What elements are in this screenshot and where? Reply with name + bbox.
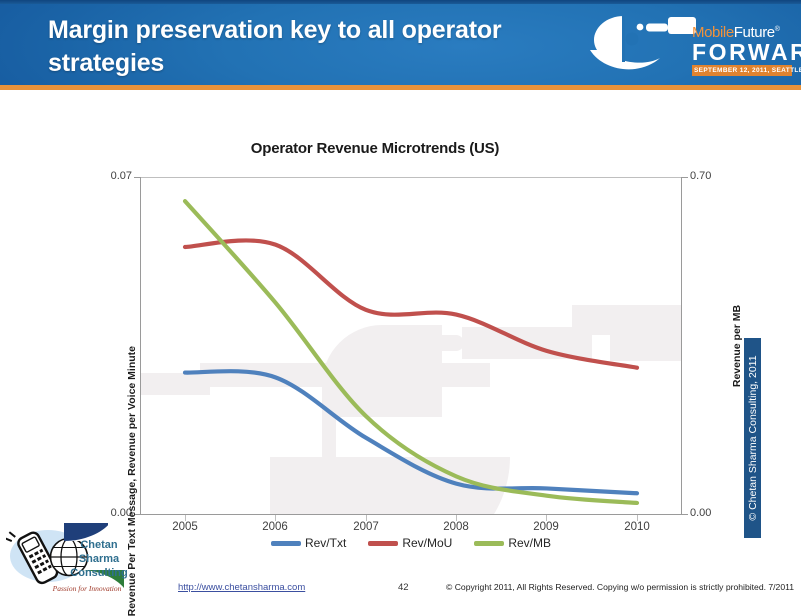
legend-item-rev-mb[interactable]: Rev/MB [474, 536, 551, 550]
company-logo-wordmark: Chetan Sharma Consulting [54, 538, 144, 580]
page-title: Margin preservation key to all operator … [48, 14, 518, 81]
mff-event-line: SEPTEMBER 12, 2011, SEATTLE [692, 65, 792, 76]
series-line-rev-txt [185, 371, 637, 493]
y2-tick-mark-min [682, 514, 688, 515]
slide-footer: http://www.chetansharma.com 42 © Copyrig… [0, 582, 801, 600]
legend-label: Rev/MB [508, 536, 551, 550]
mff-wordmark: MobileFuture® FORWARD SEPTEMBER 12, 2011… [692, 22, 792, 76]
mff-swoosh-icon [588, 10, 698, 76]
footer-copyright: © Copyright 2011, All Rights Reserved. C… [446, 582, 794, 592]
x-axis-tick-2005: 2005 [172, 521, 198, 533]
legend-item-rev-mou[interactable]: Rev/MoU [368, 536, 452, 550]
company-logo-line-1: Chetan [54, 538, 144, 552]
chart-title: Operator Revenue Microtrends (US) [95, 140, 655, 157]
legend-swatch [474, 541, 504, 546]
side-strip-label: © Chetan Sharma Consulting, 2011 [747, 355, 759, 520]
y-axis-tick-max: 0.07 [111, 170, 132, 182]
header-white-rule [0, 90, 801, 92]
mff-word-forward: FORWARD [692, 40, 792, 64]
company-logo-line-2: Sharma [54, 552, 144, 566]
series-line-rev-mb [185, 201, 637, 503]
legend-swatch [271, 541, 301, 546]
x-axis-tick-2008: 2008 [443, 521, 469, 533]
footer-page-number: 42 [398, 582, 409, 593]
legend-item-rev-txt[interactable]: Rev/Txt [271, 536, 346, 550]
x-axis-tick-2007: 2007 [353, 521, 379, 533]
y2-tick-mark-max [682, 177, 688, 178]
x-axis-tick-2006: 2006 [262, 521, 288, 533]
y2-axis-tick-min: 0.00 [690, 507, 711, 519]
chart: Operator Revenue Microtrends (US) [95, 132, 715, 562]
mobile-future-forward-logo: MobileFuture® FORWARD SEPTEMBER 12, 2011… [588, 8, 793, 80]
legend-label: Rev/Txt [305, 536, 346, 550]
legend-label: Rev/MoU [402, 536, 452, 550]
chart-legend: Rev/TxtRev/MoURev/MB [140, 536, 682, 550]
legend-swatch [368, 541, 398, 546]
y2-axis-title: Revenue per MB [731, 305, 743, 387]
mff-registered-mark: ® [775, 26, 780, 33]
footer-website-link[interactable]: http://www.chetansharma.com [178, 582, 305, 593]
slide-canvas: Margin preservation key to all operator … [0, 0, 801, 600]
slide-header: Margin preservation key to all operator … [0, 0, 801, 85]
y2-axis-tick-max: 0.70 [690, 170, 711, 182]
x-axis-tick-2009: 2009 [533, 521, 559, 533]
chart-plot-area: 0.07 0.00 0.70 0.00 2005 2006 2007 2008 … [140, 177, 682, 515]
company-logo-line-3: Consulting [54, 566, 144, 580]
copyright-side-strip: © Chetan Sharma Consulting, 2011 [744, 338, 761, 538]
x-axis-tick-2010: 2010 [624, 521, 650, 533]
mff-name-line: MobileFuture® [692, 22, 792, 40]
series-line-rev-mou [185, 240, 637, 367]
chart-series-layer [140, 177, 682, 515]
